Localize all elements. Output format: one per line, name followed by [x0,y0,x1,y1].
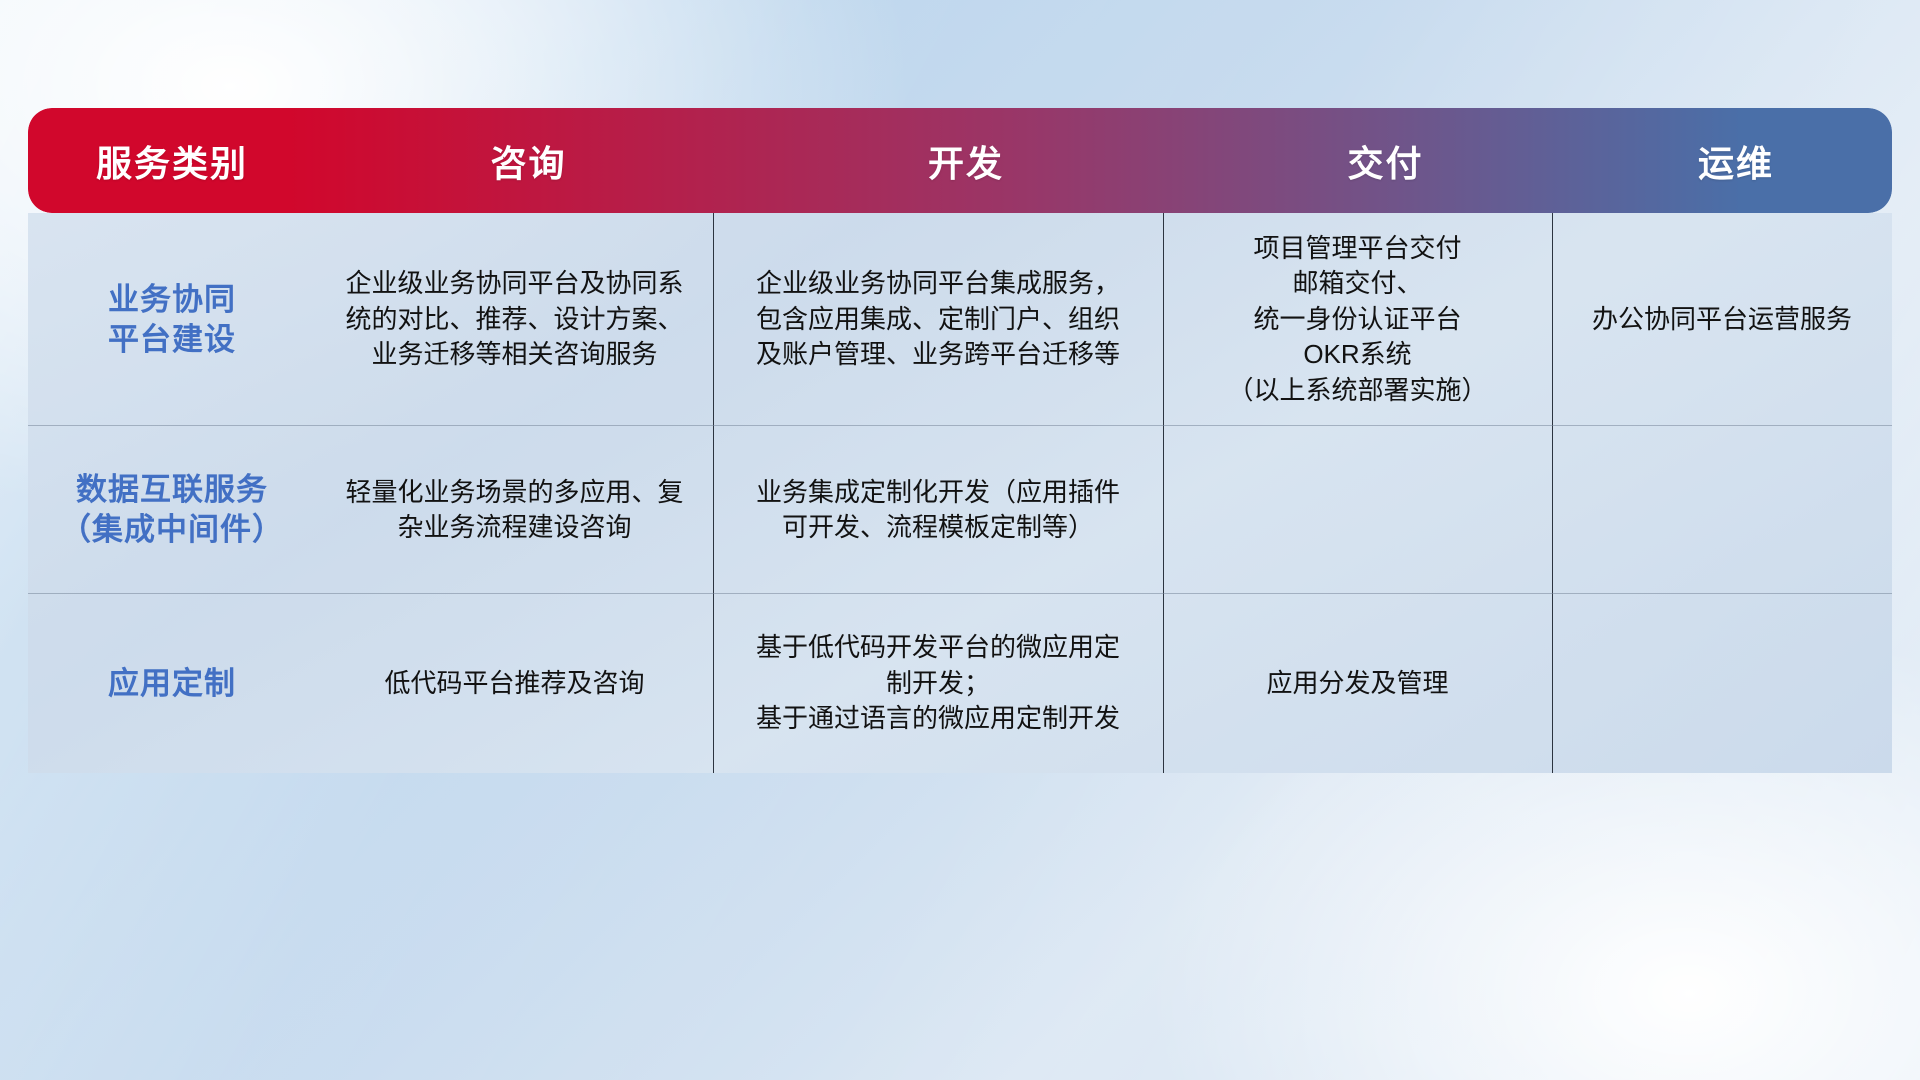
cell-develop: 基于低代码开发平台的微应用定 制开发； 基于通过语言的微应用定制开发 [713,594,1163,773]
table-row: 业务协同 平台建设 企业级业务协同平台及协同系 统的对比、推荐、设计方案、 业务… [28,213,1892,426]
table-header-row: 服务类别 咨询 开发 交付 运维 [28,108,1892,213]
cell-text: 低代码平台推荐及咨询 [330,666,699,701]
cell-consult: 低代码平台推荐及咨询 [316,594,713,773]
column-header-develop: 开发 [741,135,1191,187]
category-label: 应用定制 [42,664,302,704]
cell-text: 基于低代码开发平台的微应用定 制开发； 基于通过语言的微应用定制开发 [727,630,1149,736]
cell-operate [1552,594,1892,773]
category-label: 数据互联服务 （集成中间件） [42,470,302,549]
service-matrix-table: 服务类别 咨询 开发 交付 运维 业务协同 平台建设 企业级业务协同平台及协同系… [28,108,1892,773]
cell-category: 业务协同 平台建设 [28,213,316,426]
table-row: 数据互联服务 （集成中间件） 轻量化业务场景的多应用、复 杂业务流程建设咨询 业… [28,426,1892,594]
cell-consult: 企业级业务协同平台及协同系 统的对比、推荐、设计方案、 业务迁移等相关咨询服务 [316,213,713,426]
cell-text: 企业级业务协同平台及协同系 统的对比、推荐、设计方案、 业务迁移等相关咨询服务 [330,266,699,372]
cell-develop: 企业级业务协同平台集成服务， 包含应用集成、定制门户、组织 及账户管理、业务跨平… [713,213,1163,426]
cell-text: 办公协同平台运营服务 [1566,302,1878,337]
cell-operate: 办公协同平台运营服务 [1552,213,1892,426]
column-header-deliver: 交付 [1191,135,1580,187]
column-header-category: 服务类别 [28,135,316,187]
table-body: 业务协同 平台建设 企业级业务协同平台及协同系 统的对比、推荐、设计方案、 业务… [28,213,1892,773]
slide-canvas: 服务类别 咨询 开发 交付 运维 业务协同 平台建设 企业级业务协同平台及协同系… [0,0,1920,1080]
cell-category: 数据互联服务 （集成中间件） [28,426,316,594]
cell-text: 应用分发及管理 [1177,666,1538,701]
cell-text: 轻量化业务场景的多应用、复 杂业务流程建设咨询 [330,475,699,546]
cell-deliver [1163,426,1552,594]
cell-deliver: 项目管理平台交付 邮箱交付、 统一身份认证平台 OKR系统 （以上系统部署实施） [1163,213,1552,426]
cell-text: 项目管理平台交付 邮箱交付、 统一身份认证平台 OKR系统 （以上系统部署实施） [1177,231,1538,408]
cell-category: 应用定制 [28,594,316,773]
cell-consult: 轻量化业务场景的多应用、复 杂业务流程建设咨询 [316,426,713,594]
cell-operate [1552,426,1892,594]
column-header-operate: 运维 [1580,135,1892,187]
cell-deliver: 应用分发及管理 [1163,594,1552,773]
table-row: 应用定制 低代码平台推荐及咨询 基于低代码开发平台的微应用定 制开发； 基于通过… [28,594,1892,773]
category-label: 业务协同 平台建设 [42,280,302,359]
cell-text: 业务集成定制化开发（应用插件 可开发、流程模板定制等） [727,475,1149,546]
column-header-consult: 咨询 [316,135,741,187]
cell-text: 企业级业务协同平台集成服务， 包含应用集成、定制门户、组织 及账户管理、业务跨平… [727,266,1149,372]
cell-develop: 业务集成定制化开发（应用插件 可开发、流程模板定制等） [713,426,1163,594]
